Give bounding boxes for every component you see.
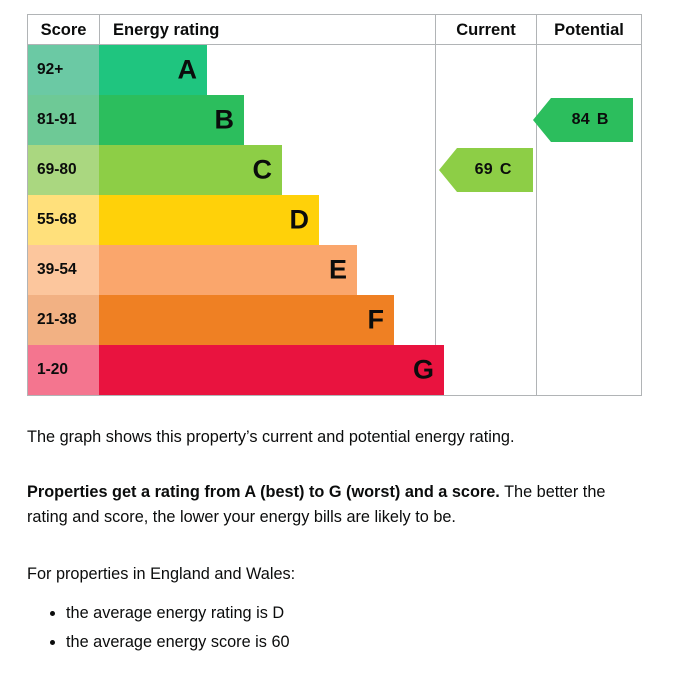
band-score-d: 55-68 [28,195,99,245]
band-row-d: 55-68 D [28,195,641,245]
band-bar-g: G [99,345,444,395]
band-row-e: 39-54 E [28,245,641,295]
explanatory-copy: The graph shows this property’s current … [27,425,647,659]
band-letter-b: B [215,107,235,134]
list-item: the average energy score is 60 [66,630,647,655]
band-letter-c: C [253,157,273,184]
epc-certificate: Score Energy rating Current Potential 92… [0,0,684,689]
band-score-a: 92+ [28,45,99,95]
band-bar-f: F [99,295,394,345]
intro-paragraph: The graph shows this property’s current … [27,425,647,450]
region-heading: For properties in England and Wales: [27,562,647,587]
band-score-c: 69-80 [28,145,99,195]
rating-explanation-bold: Properties get a rating from A (best) to… [27,483,500,501]
current-rating-score: 69 [475,161,493,178]
band-score-f: 21-38 [28,295,99,345]
band-score-e: 39-54 [28,245,99,295]
current-rating-arrow: 69C [439,148,533,192]
band-letter-g: G [413,357,434,384]
band-bar-a: A [99,45,207,95]
band-score-g: 1-20 [28,345,99,395]
band-letter-d: D [290,207,310,234]
band-row-a: 92+ A [28,45,641,95]
band-letter-f: F [368,307,385,334]
band-letter-e: E [329,257,347,284]
column-header-potential: Potential [536,15,641,45]
band-score-b: 81-91 [28,95,99,145]
current-rating-letter: C [500,161,512,178]
band-bar-b: B [99,95,244,145]
band-row-f: 21-38 F [28,295,641,345]
table-header-row: Score Energy rating Current Potential [28,15,641,45]
band-bar-c: C [99,145,282,195]
energy-rating-table: Score Energy rating Current Potential 92… [27,14,642,396]
band-bar-d: D [99,195,319,245]
band-letter-a: A [178,57,198,84]
list-item: the average energy rating is D [66,601,647,626]
rating-explanation-paragraph: Properties get a rating from A (best) to… [27,480,647,530]
column-header-current: Current [435,15,536,45]
column-header-score: Score [28,15,99,45]
region-averages-list: the average energy rating is D the avera… [27,601,647,655]
band-bar-e: E [99,245,357,295]
potential-rating-letter: B [597,111,609,128]
band-row-c: 69-80 C [28,145,641,195]
rating-bands: 92+ A 81-91 B 69-80 C 55-68 [28,45,641,395]
band-row-g: 1-20 G [28,345,641,395]
column-header-energy-rating: Energy rating [99,15,435,45]
potential-rating-score: 84 [572,111,590,128]
potential-rating-arrow: 84B [533,98,633,142]
